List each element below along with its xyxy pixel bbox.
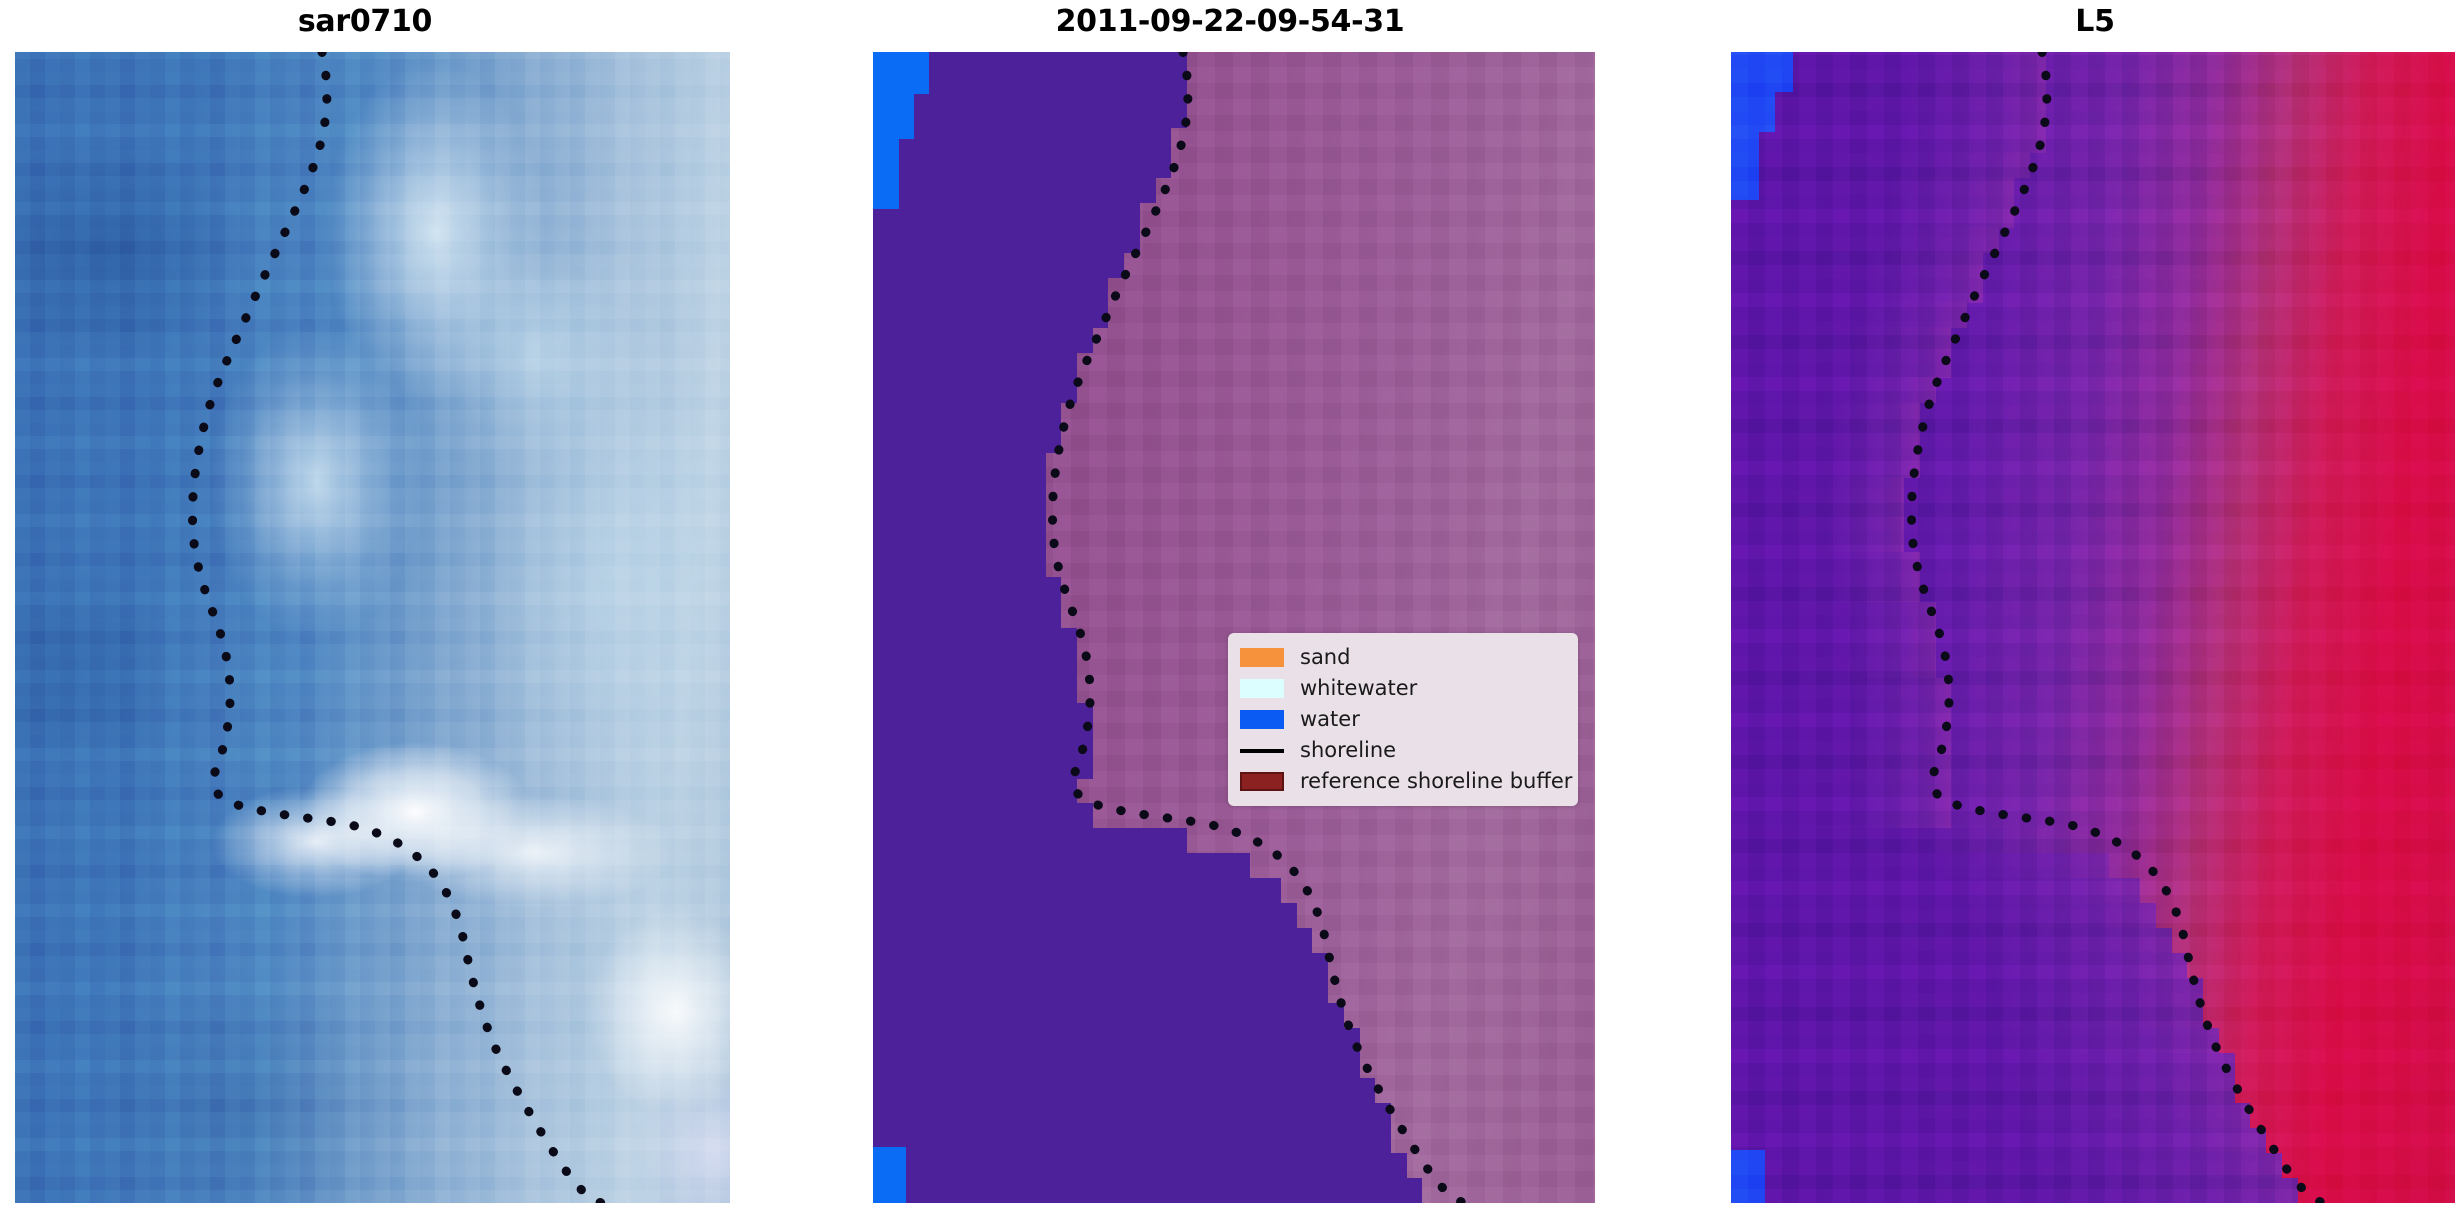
panel-l5: L5	[1730, 0, 2460, 1219]
legend-swatch-water-icon	[1240, 710, 1284, 729]
legend-label-whitewater: whitewater	[1300, 678, 1417, 699]
legend-label-shoreline: shoreline	[1300, 740, 1396, 761]
legend-box: sand whitewater water shoreline referenc…	[1228, 633, 1578, 806]
legend-swatch-shoreline-icon	[1240, 741, 1284, 760]
legend-label-water: water	[1300, 709, 1360, 730]
panel-title-l5: L5	[1730, 4, 2460, 39]
legend-item-water: water	[1240, 704, 1566, 735]
shoreline-overlay-classified	[873, 52, 1595, 1203]
figure-canvas: sar0710 2011-09-22-09-54-31 L5	[0, 0, 2460, 1219]
legend-item-buffer: reference shoreline buffer	[1240, 766, 1566, 797]
shoreline-overlay-sar	[15, 52, 730, 1203]
panel-image-l5	[1731, 52, 2455, 1203]
legend-item-shoreline: shoreline	[1240, 735, 1566, 766]
legend-swatch-sand-icon	[1240, 648, 1284, 667]
legend-item-whitewater: whitewater	[1240, 673, 1566, 704]
legend-label-buffer: reference shoreline buffer	[1300, 771, 1572, 792]
legend-swatch-whitewater-icon	[1240, 679, 1284, 698]
legend-item-sand: sand	[1240, 642, 1566, 673]
panel-title-sar: sar0710	[0, 4, 730, 39]
shoreline-overlay-l5	[1731, 52, 2455, 1203]
legend-label-sand: sand	[1300, 647, 1350, 668]
legend-swatch-buffer-icon	[1240, 772, 1284, 791]
panel-classified: 2011-09-22-09-54-31	[865, 0, 1595, 1219]
panel-image-sar	[15, 52, 730, 1203]
panel-image-classified	[873, 52, 1595, 1203]
panel-sar: sar0710	[0, 0, 730, 1219]
panel-title-classified: 2011-09-22-09-54-31	[865, 4, 1595, 39]
